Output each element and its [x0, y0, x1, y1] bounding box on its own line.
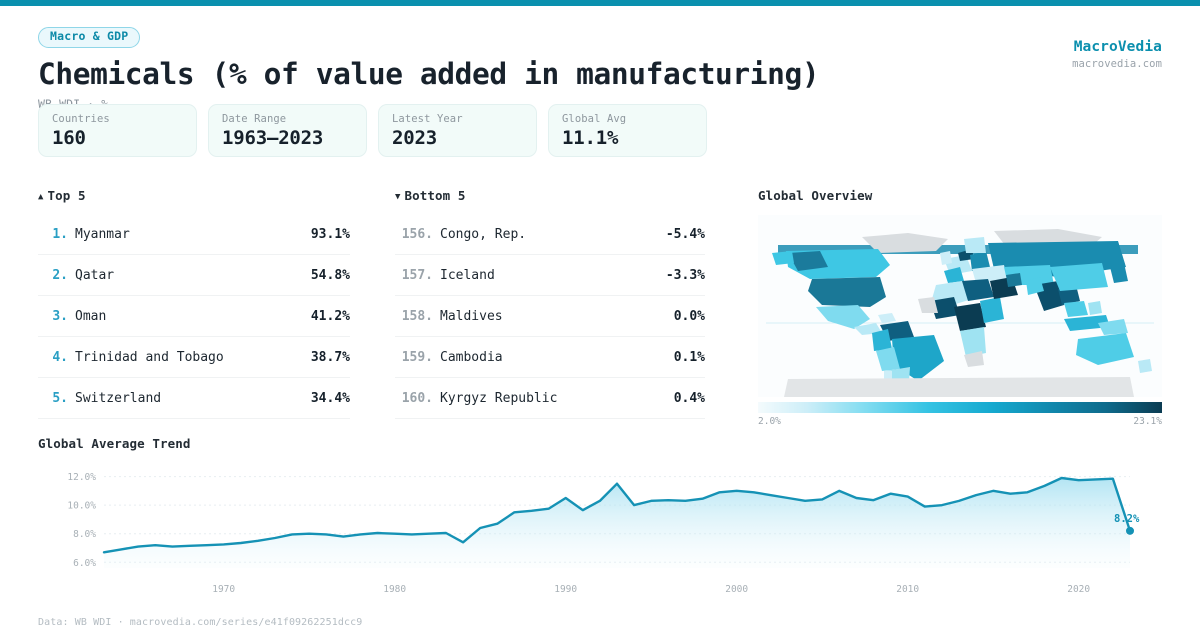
bottom-5-title: ▼Bottom 5	[395, 188, 705, 203]
poster-page: Macro & GDP Chemicals (% of value added …	[0, 6, 1200, 630]
value: 38.7%	[311, 350, 350, 365]
country-name: Switzerland	[68, 391, 311, 406]
table-row[interactable]: 3. Oman 41.2%	[38, 296, 350, 337]
table-row[interactable]: 157. Iceland -3.3%	[395, 255, 705, 296]
table-row[interactable]: 4. Trinidad and Tobago 38.7%	[38, 337, 350, 378]
brand-url: macrovedia.com	[1072, 58, 1162, 70]
y-tick-labels: 12.0%10.0%8.0%6.0%	[67, 472, 96, 569]
legend-labels: 2.0% 23.1%	[758, 416, 1162, 427]
stat-label: Countries	[52, 113, 196, 125]
x-tick-label: 1970	[212, 584, 235, 595]
triangle-down-icon: ▼	[395, 192, 401, 202]
table-row[interactable]: 160. Kyrgyz Republic 0.4%	[395, 378, 705, 419]
legend-min-label: 2.0%	[758, 416, 781, 427]
rank: 4.	[38, 350, 68, 365]
table-row[interactable]: 2. Qatar 54.8%	[38, 255, 350, 296]
table-row[interactable]: 158. Maldives 0.0%	[395, 296, 705, 337]
stat-card-latest-year: Latest Year 2023	[378, 104, 537, 157]
rank: 157.	[395, 268, 433, 283]
top-5-title: ▲Top 5	[38, 188, 350, 203]
legend-gradient-bar	[758, 402, 1162, 413]
value: 0.4%	[674, 391, 705, 406]
value: 0.0%	[674, 309, 705, 324]
stat-value: 11.1%	[562, 127, 706, 149]
rank: 3.	[38, 309, 68, 324]
svg-text:10.0%: 10.0%	[67, 501, 96, 512]
value: 93.1%	[311, 227, 350, 242]
country-name: Qatar	[68, 268, 311, 283]
country-name: Maldives	[433, 309, 674, 324]
country-name: Iceland	[433, 268, 666, 283]
country-name: Myanmar	[68, 227, 311, 242]
world-choropleth-map[interactable]	[758, 215, 1162, 397]
trend-chart[interactable]: 12.0%10.0%8.0%6.0% 8.2% 1970198019902000…	[38, 460, 1162, 582]
country-name: Trinidad and Tobago	[68, 350, 311, 365]
trend-end-label: 8.2%	[1114, 513, 1140, 525]
x-tick-label: 2000	[725, 584, 748, 595]
top-5-panel: ▲Top 5 1. Myanmar 93.1% 2. Qatar 54.8% 3…	[38, 188, 350, 419]
table-row[interactable]: 156. Congo, Rep. -5.4%	[395, 214, 705, 255]
rank: 5.	[38, 391, 68, 406]
category-pill: Macro & GDP	[38, 27, 140, 48]
table-row[interactable]: 1. Myanmar 93.1%	[38, 214, 350, 255]
value: 34.4%	[311, 391, 350, 406]
page-title: Chemicals (% of value added in manufactu…	[38, 57, 819, 91]
rank: 158.	[395, 309, 433, 324]
x-tick-label: 1980	[383, 584, 406, 595]
bottom-5-title-label: Bottom 5	[405, 188, 466, 203]
stat-value: 2023	[392, 127, 536, 149]
stat-cards: Countries 160 Date Range 1963–2023 Lates…	[38, 104, 707, 157]
bottom-5-panel: ▼Bottom 5 156. Congo, Rep. -5.4% 157. Ic…	[395, 188, 705, 419]
brand: MacroVedia macrovedia.com	[1072, 39, 1162, 70]
stat-card-global-avg: Global Avg 11.1%	[548, 104, 707, 157]
svg-text:8.0%: 8.0%	[73, 529, 96, 540]
stat-label: Date Range	[222, 113, 366, 125]
table-row[interactable]: 5. Switzerland 34.4%	[38, 378, 350, 419]
x-tick-label: 1990	[554, 584, 577, 595]
brand-name: MacroVedia	[1072, 39, 1162, 55]
stat-value: 1963–2023	[222, 127, 366, 149]
top-5-rows: 1. Myanmar 93.1% 2. Qatar 54.8% 3. Oman …	[38, 214, 350, 419]
trend-area	[104, 478, 1130, 568]
global-overview-panel: Global Overview	[758, 188, 1162, 427]
x-tick-label: 2010	[896, 584, 919, 595]
top-5-title-label: Top 5	[48, 188, 86, 203]
svg-text:12.0%: 12.0%	[67, 472, 96, 483]
stat-label: Global Avg	[562, 113, 706, 125]
stat-value: 160	[52, 127, 196, 149]
stat-card-countries: Countries 160	[38, 104, 197, 157]
country-name: Cambodia	[433, 350, 674, 365]
trend-end-point	[1126, 527, 1134, 535]
triangle-up-icon: ▲	[38, 192, 44, 202]
value: -5.4%	[666, 227, 705, 242]
value: 0.1%	[674, 350, 705, 365]
country-name: Oman	[68, 309, 311, 324]
table-row[interactable]: 159. Cambodia 0.1%	[395, 337, 705, 378]
trend-chart-svg: 12.0%10.0%8.0%6.0% 8.2%	[38, 460, 1162, 582]
trend-title: Global Average Trend	[38, 436, 1162, 451]
world-map-svg	[758, 215, 1162, 397]
legend-max-label: 23.1%	[1133, 416, 1162, 427]
footer-source: Data: WB WDI · macrovedia.com/series/e41…	[38, 617, 362, 628]
rank: 160.	[395, 391, 433, 406]
rank: 156.	[395, 227, 433, 242]
header: Macro & GDP Chemicals (% of value added …	[38, 25, 819, 111]
bottom-5-rows: 156. Congo, Rep. -5.4% 157. Iceland -3.3…	[395, 214, 705, 419]
stat-label: Latest Year	[392, 113, 536, 125]
svg-text:6.0%: 6.0%	[73, 558, 96, 569]
rank: 159.	[395, 350, 433, 365]
map-title: Global Overview	[758, 188, 1162, 203]
global-average-trend-panel: Global Average Trend 12.0%10.0%8.0%6.0% …	[38, 436, 1162, 582]
x-tick-label: 2020	[1067, 584, 1090, 595]
value: 54.8%	[311, 268, 350, 283]
rank: 2.	[38, 268, 68, 283]
map-legend: 2.0% 23.1%	[758, 402, 1162, 427]
x-axis-ticks: 197019801990200020102020	[38, 584, 1162, 598]
country-name: Kyrgyz Republic	[433, 391, 674, 406]
rank: 1.	[38, 227, 68, 242]
stat-card-date-range: Date Range 1963–2023	[208, 104, 367, 157]
value: 41.2%	[311, 309, 350, 324]
country-name: Congo, Rep.	[433, 227, 666, 242]
value: -3.3%	[666, 268, 705, 283]
